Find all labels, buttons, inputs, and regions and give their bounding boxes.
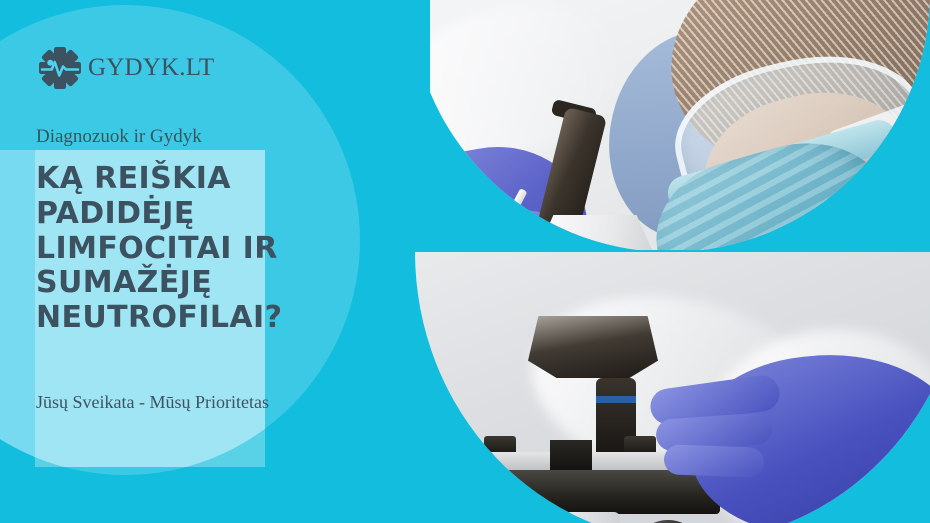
microscope-arm <box>542 512 620 523</box>
lab-scene-lower <box>400 252 930 523</box>
microscope-stage <box>460 470 720 514</box>
banner-kicker: Diagnozuok ir Gydyk <box>36 126 202 148</box>
brand-name: GYDYK.LT <box>88 54 214 82</box>
banner-headline: KĄ REIŠKIA PADIDĖJĘ LIMFOCITAI IR SUMAŽĖ… <box>36 162 346 336</box>
banner-content: GYDYK.LT Diagnozuok ir Gydyk KĄ REIŠKIA … <box>36 0 376 523</box>
promo-banner: GYDYK.LT Diagnozuok ir Gydyk KĄ REIŠKIA … <box>0 0 930 523</box>
brand-logo[interactable]: GYDYK.LT <box>36 44 214 92</box>
medical-star-of-life-ekg-icon <box>36 44 84 92</box>
hero-photo <box>400 0 930 523</box>
lab-scene-upper <box>430 0 930 250</box>
hero-photo-upper-lobe <box>430 0 930 250</box>
banner-tagline: Jūsų Sveikata - Mūsų Prioritetas <box>36 392 269 413</box>
hero-photo-lower-lobe <box>400 252 930 523</box>
